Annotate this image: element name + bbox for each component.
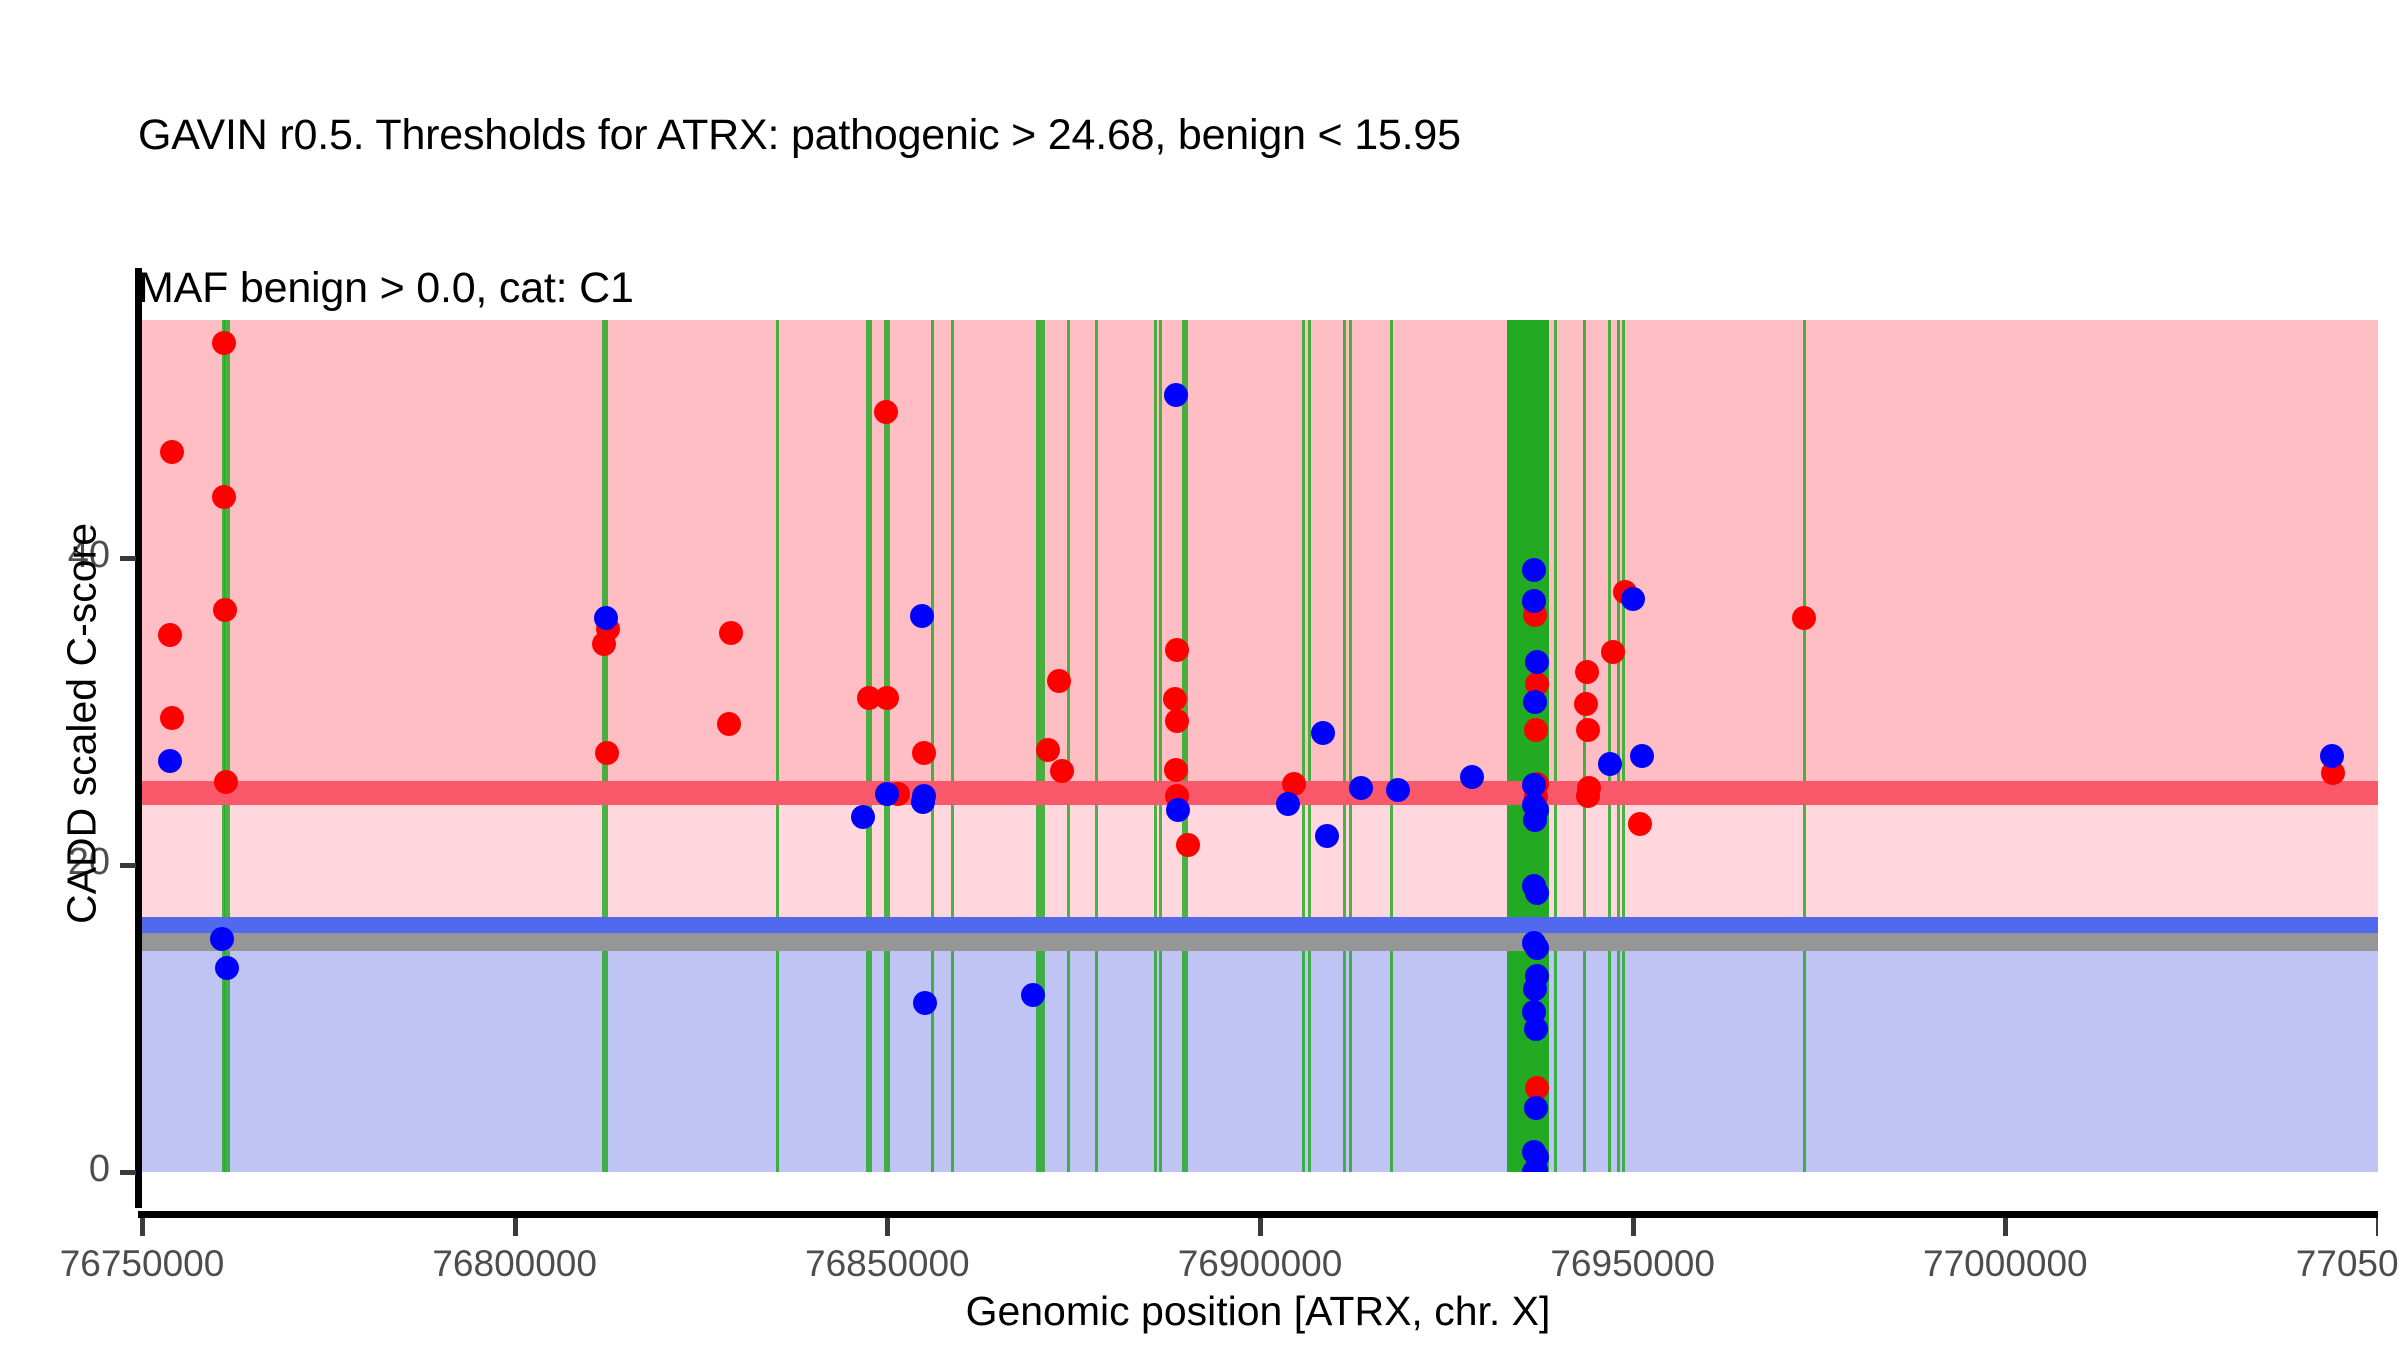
gnomad-variant-point bbox=[911, 790, 935, 814]
gnomad-variant-point bbox=[210, 927, 234, 951]
refseq-exon-line bbox=[1554, 320, 1557, 1172]
refseq-exon-line bbox=[1608, 320, 1611, 1172]
refseq-exon-line bbox=[1302, 320, 1305, 1172]
gnomad-variant-point bbox=[1276, 792, 1300, 816]
chart-title-line-1: GAVIN r0.5. Thresholds for ATRX: pathoge… bbox=[138, 110, 2338, 161]
pathogenic-variant-point bbox=[1036, 738, 1060, 762]
pathogenic-variant-point bbox=[1164, 758, 1188, 782]
refseq-exon-line bbox=[1182, 320, 1188, 1172]
refseq-exon-line bbox=[1390, 320, 1393, 1172]
gnomad-variant-point bbox=[2320, 744, 2344, 768]
refseq-exon-line bbox=[1095, 320, 1098, 1172]
y-axis-tick bbox=[120, 863, 136, 868]
x-axis-tick-label: 77000000 bbox=[1923, 1243, 2088, 1285]
refseq-exon-line bbox=[776, 320, 779, 1172]
pathogenic-variant-point bbox=[875, 686, 899, 710]
x-axis-title: Genomic position [ATRX, chr. X] bbox=[138, 1288, 2378, 1335]
pathogenic-variant-point bbox=[1628, 812, 1652, 836]
refseq-exon-line bbox=[1308, 320, 1311, 1172]
pathogenic-variant-point bbox=[212, 485, 236, 509]
refseq-exon-line bbox=[1583, 320, 1586, 1172]
gnomad-variant-point bbox=[158, 749, 182, 773]
x-axis-tick-label: 77050000 bbox=[2296, 1243, 2400, 1285]
pathogenic-variant-point bbox=[719, 621, 743, 645]
gnomad-variant-point bbox=[1525, 936, 1549, 960]
gnomad-variant-point bbox=[1315, 824, 1339, 848]
pathogenic-variant-point bbox=[212, 331, 236, 355]
region-band-benign bbox=[142, 942, 2378, 1172]
x-axis-tick bbox=[140, 1218, 145, 1236]
plot-panel bbox=[142, 320, 2378, 1172]
gnomad-variant-point bbox=[1166, 798, 1190, 822]
x-axis-tick-label: 76950000 bbox=[1550, 1243, 1715, 1285]
pathogenic-variant-point bbox=[1165, 709, 1189, 733]
gnomad-variant-point bbox=[1525, 881, 1549, 905]
pathogenic-variant-point bbox=[1524, 718, 1548, 742]
x-axis-tick-label: 76900000 bbox=[1178, 1243, 1343, 1285]
gnomad-variant-point bbox=[1021, 983, 1045, 1007]
x-axis-tick bbox=[2003, 1218, 2008, 1236]
gnomad-variant-point bbox=[215, 956, 239, 980]
refseq-exon-line bbox=[887, 320, 890, 1172]
x-axis-tick bbox=[1258, 1218, 1263, 1236]
region-band-pathogenic bbox=[142, 320, 2378, 793]
pathogenic-variant-point bbox=[1575, 660, 1599, 684]
x-axis-line bbox=[138, 1211, 2400, 1218]
pathogenic-variant-point bbox=[1047, 669, 1071, 693]
gnomad-variant-point bbox=[594, 606, 618, 630]
gnomad-variant-point bbox=[875, 782, 899, 806]
gnomad-variant-point bbox=[913, 991, 937, 1015]
y-axis-tick bbox=[120, 556, 136, 561]
gnomad-variant-point bbox=[1524, 1096, 1548, 1120]
gnomad-variant-point bbox=[1598, 752, 1622, 776]
region-band-vus bbox=[142, 793, 2378, 927]
refseq-exon-line bbox=[1507, 320, 1549, 1172]
refseq-exon-line bbox=[1067, 320, 1070, 1172]
y-axis-tick bbox=[120, 1170, 136, 1175]
gnomad-variant-point bbox=[1630, 744, 1654, 768]
gnomad-variant-point bbox=[1621, 587, 1645, 611]
pathogenic-variant-point bbox=[158, 623, 182, 647]
x-axis-tick-label: 76750000 bbox=[60, 1243, 225, 1285]
x-axis-tick bbox=[885, 1218, 890, 1236]
refseq-exon-line bbox=[866, 320, 869, 1172]
pathogenic-variant-point bbox=[874, 400, 898, 424]
pathogenic-variant-point bbox=[592, 632, 616, 656]
pathogenic-variant-point bbox=[160, 440, 184, 464]
gnomad-variant-point bbox=[1349, 776, 1373, 800]
refseq-exon-line bbox=[1803, 320, 1806, 1172]
refseq-exon-line bbox=[227, 320, 230, 1172]
chart-title-line-2: MAF benign > 0.0, cat: C1 bbox=[138, 263, 2338, 314]
x-axis-tick bbox=[1631, 1218, 1636, 1236]
y-axis-title: CADD scaled C-score bbox=[59, 404, 106, 1044]
gnomad-variant-point bbox=[1164, 383, 1188, 407]
pathogenic-threshold-line bbox=[142, 781, 2378, 805]
fallback-threshold-line bbox=[142, 933, 2378, 951]
gnomad-variant-point bbox=[1525, 650, 1549, 674]
refseq-exon-line bbox=[869, 320, 872, 1172]
y-axis-line bbox=[135, 268, 142, 1208]
pathogenic-variant-point bbox=[595, 741, 619, 765]
refseq-exon-line bbox=[1159, 320, 1162, 1172]
x-axis-tick-label: 76850000 bbox=[805, 1243, 970, 1285]
right-edge-clip-mask bbox=[2378, 0, 2400, 1240]
pathogenic-variant-point bbox=[160, 706, 184, 730]
pathogenic-variant-point bbox=[912, 741, 936, 765]
pathogenic-variant-point bbox=[717, 712, 741, 736]
refseq-exon-line bbox=[1349, 320, 1352, 1172]
refseq-exon-line bbox=[951, 320, 954, 1172]
pathogenic-variant-point bbox=[1601, 640, 1625, 664]
gnomad-variant-point bbox=[1524, 1017, 1548, 1041]
gnomad-variant-point bbox=[1522, 589, 1546, 613]
refseq-exon-line bbox=[1622, 320, 1625, 1172]
gnomad-variant-point bbox=[1386, 778, 1410, 802]
refseq-exon-line bbox=[884, 320, 887, 1172]
refseq-exon-line bbox=[1617, 320, 1620, 1172]
chart-canvas: GAVIN r0.5. Thresholds for ATRX: pathoge… bbox=[0, 0, 2400, 1350]
x-axis-tick-label: 76800000 bbox=[432, 1243, 597, 1285]
y-axis-tick-label: 0 bbox=[0, 1148, 110, 1191]
pathogenic-variant-point bbox=[1792, 606, 1816, 630]
x-axis-tick bbox=[513, 1218, 518, 1236]
pathogenic-variant-point bbox=[1165, 638, 1189, 662]
pathogenic-variant-point bbox=[1576, 718, 1600, 742]
refseq-exon-line bbox=[1154, 320, 1157, 1172]
refseq-exon-line bbox=[1343, 320, 1346, 1172]
pathogenic-variant-point bbox=[1576, 784, 1600, 808]
